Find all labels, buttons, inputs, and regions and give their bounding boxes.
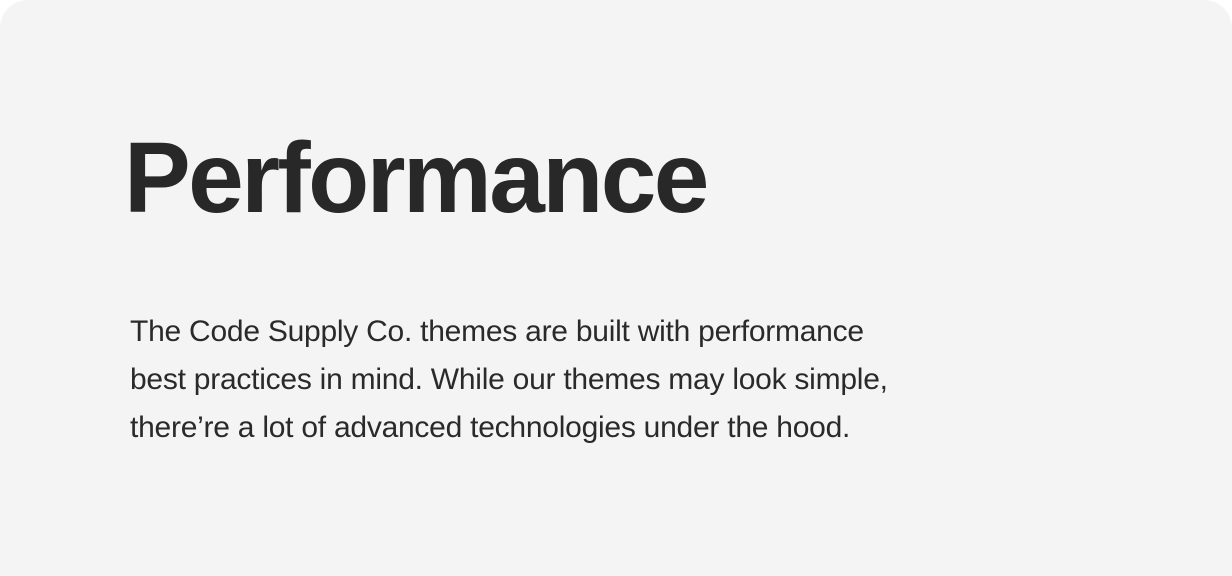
description-line-2: best practices in mind. While our themes…: [130, 356, 960, 404]
card-description: The Code Supply Co. themes are built wit…: [130, 308, 960, 452]
page-title: Performance: [124, 128, 707, 228]
card-content: Performance The Code Supply Co. themes a…: [130, 0, 1090, 576]
performance-feature-card: Performance The Code Supply Co. themes a…: [0, 0, 1232, 576]
description-line-1: The Code Supply Co. themes are built wit…: [130, 308, 960, 356]
description-line-3: there’re a lot of advanced technologies …: [130, 404, 960, 452]
